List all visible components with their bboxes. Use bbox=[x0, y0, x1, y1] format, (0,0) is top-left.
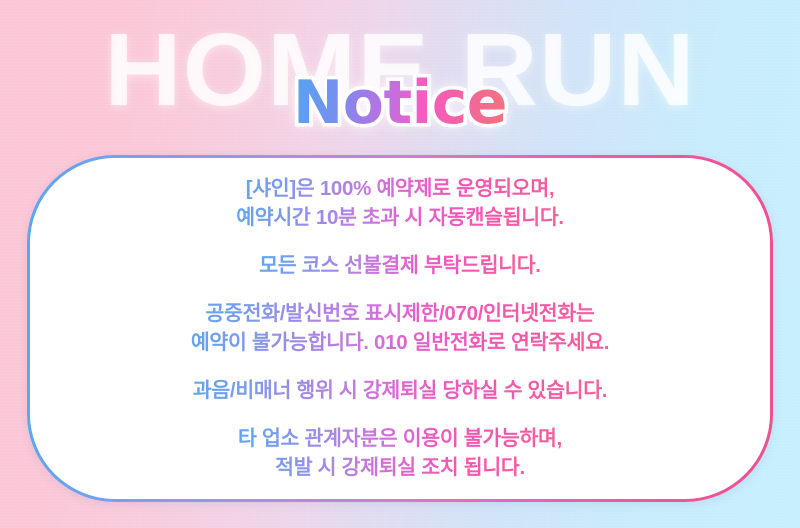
notice-line: 과음/비매너 행위 시 강제퇴실 당하실 수 있습니다. bbox=[193, 376, 607, 405]
notice-line: [샤인]은 100% 예약제로 운영되오며, bbox=[236, 174, 564, 203]
notice-line: 예약이 불가능합니다. 010 일반전화로 연락주세요. bbox=[191, 328, 609, 357]
notice-banner: HOME RUN Notice Notice [샤인]은 100% 예약제로 운… bbox=[0, 0, 800, 528]
notice-paragraph: 과음/비매너 행위 시 강제퇴실 당하실 수 있습니다. bbox=[193, 376, 607, 405]
notice-line: 모든 코스 선불결제 부탁드립니다. bbox=[259, 251, 540, 280]
notice-title: Notice Notice bbox=[293, 72, 507, 135]
notice-card: [샤인]은 100% 예약제로 운영되오며, 예약시간 10분 초과 시 자동캔… bbox=[27, 155, 773, 502]
notice-paragraph: 모든 코스 선불결제 부탁드립니다. bbox=[259, 251, 540, 280]
notice-line: 적발 시 강제퇴실 조치 됩니다. bbox=[238, 453, 562, 482]
notice-line: 타 업소 관계자분은 이용이 불가능하며, bbox=[238, 424, 562, 453]
notice-paragraph: 공중전화/발신번호 표시제한/070/인터넷전화는 예약이 불가능합니다. 01… bbox=[191, 299, 609, 357]
notice-line: 공중전화/발신번호 표시제한/070/인터넷전화는 bbox=[191, 299, 609, 328]
brand-watermark: HOME RUN bbox=[0, 18, 800, 121]
notice-paragraph: [샤인]은 100% 예약제로 운영되오며, 예약시간 10분 초과 시 자동캔… bbox=[236, 174, 564, 232]
notice-title-fill: Notice bbox=[293, 68, 507, 138]
notice-paragraph: 타 업소 관계자분은 이용이 불가능하며, 적발 시 강제퇴실 조치 됩니다. bbox=[238, 424, 562, 482]
notice-card-body: [샤인]은 100% 예약제로 운영되오며, 예약시간 10분 초과 시 자동캔… bbox=[30, 158, 770, 499]
page-title: Notice Notice bbox=[0, 72, 800, 135]
notice-title-halo: Notice bbox=[293, 72, 507, 135]
notice-line: 예약시간 10분 초과 시 자동캔슬됩니다. bbox=[236, 203, 564, 232]
